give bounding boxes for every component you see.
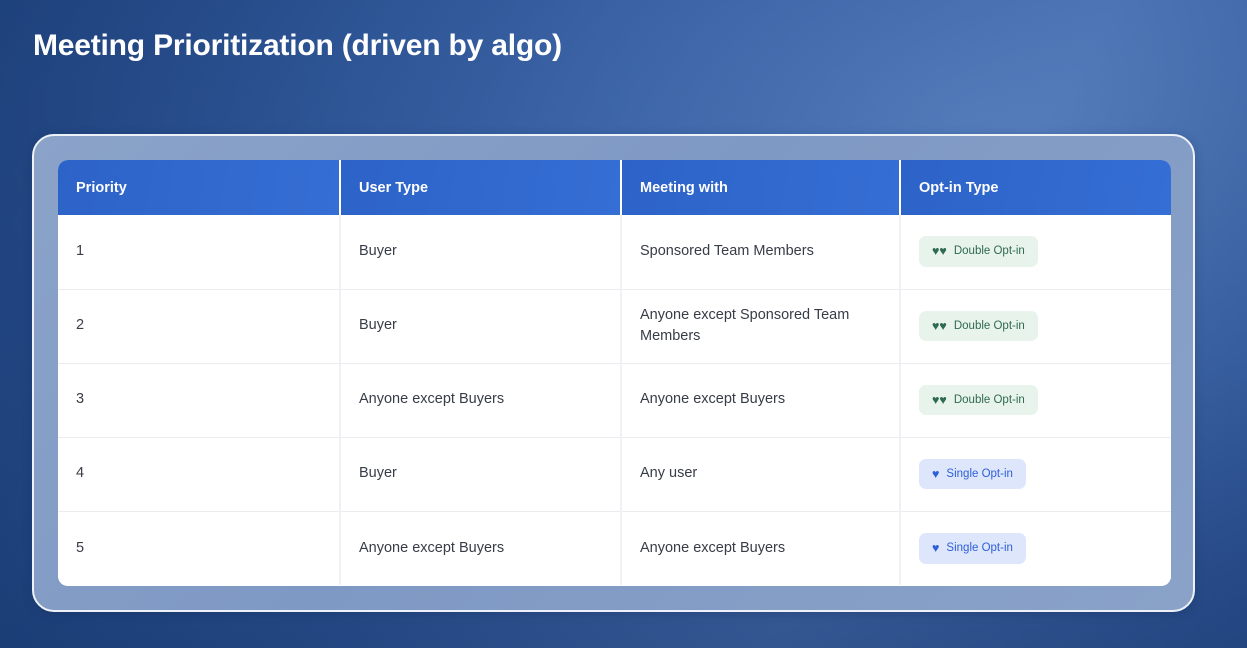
- table-header: Priority User Type Meeting with Opt-in T…: [58, 160, 1171, 215]
- column-header-priority[interactable]: Priority: [58, 160, 340, 215]
- table-row: 1BuyerSponsored Team Members♥♥Double Opt…: [58, 215, 1171, 289]
- table-row: 2BuyerAnyone except Sponsored Team Membe…: [58, 289, 1171, 363]
- column-header-opt-in-type[interactable]: Opt-in Type: [900, 160, 1171, 215]
- cell-meeting-with: Anyone except Buyers: [621, 511, 900, 585]
- badge-label: Single Opt-in: [946, 466, 1012, 483]
- cell-opt-in-type: ♥♥Double Opt-in: [900, 215, 1171, 289]
- cell-meeting-with: Anyone except Buyers: [621, 363, 900, 437]
- cell-meeting-with: Sponsored Team Members: [621, 215, 900, 289]
- table-row: 4BuyerAny user♥Single Opt-in: [58, 437, 1171, 511]
- cell-priority: 1: [58, 215, 340, 289]
- cell-opt-in-type: ♥♥Double Opt-in: [900, 289, 1171, 363]
- badge-label: Double Opt-in: [954, 243, 1025, 260]
- cell-priority: 4: [58, 437, 340, 511]
- status-badge: ♥♥Double Opt-in: [919, 236, 1038, 267]
- heart-icon: ♥♥: [932, 320, 947, 333]
- table-body: 1BuyerSponsored Team Members♥♥Double Opt…: [58, 215, 1171, 585]
- status-badge: ♥♥Double Opt-in: [919, 311, 1038, 342]
- cell-priority: 3: [58, 363, 340, 437]
- cell-user-type: Anyone except Buyers: [340, 363, 621, 437]
- cell-user-type: Buyer: [340, 289, 621, 363]
- table-row: 5Anyone except BuyersAnyone except Buyer…: [58, 511, 1171, 585]
- column-header-user-type[interactable]: User Type: [340, 160, 621, 215]
- cell-user-type: Buyer: [340, 215, 621, 289]
- cell-opt-in-type: ♥♥Double Opt-in: [900, 363, 1171, 437]
- column-header-meeting-with[interactable]: Meeting with: [621, 160, 900, 215]
- heart-icon: ♥: [932, 468, 939, 481]
- table-row: 3Anyone except BuyersAnyone except Buyer…: [58, 363, 1171, 437]
- cell-meeting-with: Any user: [621, 437, 900, 511]
- badge-label: Single Opt-in: [946, 540, 1012, 557]
- heart-icon: ♥: [932, 542, 939, 555]
- cell-user-type: Anyone except Buyers: [340, 511, 621, 585]
- page-title: Meeting Prioritization (driven by algo): [33, 29, 562, 63]
- status-badge: ♥♥Double Opt-in: [919, 385, 1038, 416]
- priority-table: Priority User Type Meeting with Opt-in T…: [58, 160, 1171, 585]
- slide-canvas: Meeting Prioritization (driven by algo) …: [0, 0, 1247, 648]
- heart-icon: ♥♥: [932, 245, 947, 258]
- badge-label: Double Opt-in: [954, 392, 1025, 409]
- status-badge: ♥Single Opt-in: [919, 533, 1026, 564]
- cell-priority: 2: [58, 289, 340, 363]
- cell-opt-in-type: ♥Single Opt-in: [900, 437, 1171, 511]
- heart-icon: ♥♥: [932, 394, 947, 407]
- table-container: Priority User Type Meeting with Opt-in T…: [58, 160, 1171, 586]
- status-badge: ♥Single Opt-in: [919, 459, 1026, 490]
- cell-meeting-with: Anyone except Sponsored Team Members: [621, 289, 900, 363]
- table-header-row: Priority User Type Meeting with Opt-in T…: [58, 160, 1171, 215]
- cell-priority: 5: [58, 511, 340, 585]
- badge-label: Double Opt-in: [954, 318, 1025, 335]
- cell-opt-in-type: ♥Single Opt-in: [900, 511, 1171, 585]
- table-card-frame: Priority User Type Meeting with Opt-in T…: [32, 134, 1195, 612]
- cell-user-type: Buyer: [340, 437, 621, 511]
